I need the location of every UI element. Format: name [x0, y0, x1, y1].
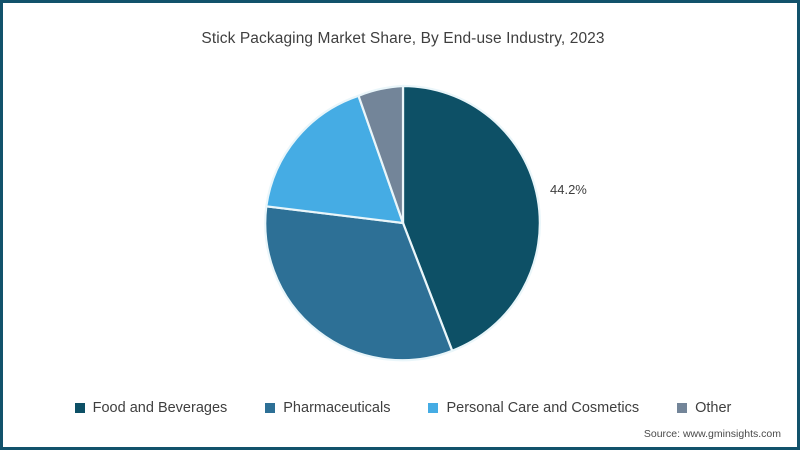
- legend-item-food-and-beverages[interactable]: Food and Beverages: [75, 400, 228, 416]
- legend-item-label: Pharmaceuticals: [283, 400, 390, 416]
- legend-item-label: Food and Beverages: [93, 400, 228, 416]
- legend-item-pharmaceuticals[interactable]: Pharmaceuticals: [265, 400, 390, 416]
- pie-slices: [265, 86, 540, 360]
- pie-data-label-food-and-beverages: 44.2%: [550, 182, 587, 197]
- legend-swatch-icon: [677, 403, 687, 413]
- chart-figure: Stick Packaging Market Share, By End-use…: [0, 0, 800, 450]
- chart-legend: Food and Beverages Pharmaceuticals Perso…: [3, 395, 800, 421]
- legend-swatch-icon: [75, 403, 85, 413]
- legend-item-label: Personal Care and Cosmetics: [446, 400, 639, 416]
- legend-swatch-icon: [265, 403, 275, 413]
- legend-item-other[interactable]: Other: [677, 400, 731, 416]
- source-note: Source: www.gminsights.com: [644, 428, 781, 440]
- legend-swatch-icon: [428, 403, 438, 413]
- legend-item-personal-care-and-cosmetics[interactable]: Personal Care and Cosmetics: [428, 400, 639, 416]
- legend-item-label: Other: [695, 400, 731, 416]
- pie-chart-area: 44.2%: [3, 3, 800, 383]
- pie-chart-svg: [253, 73, 553, 373]
